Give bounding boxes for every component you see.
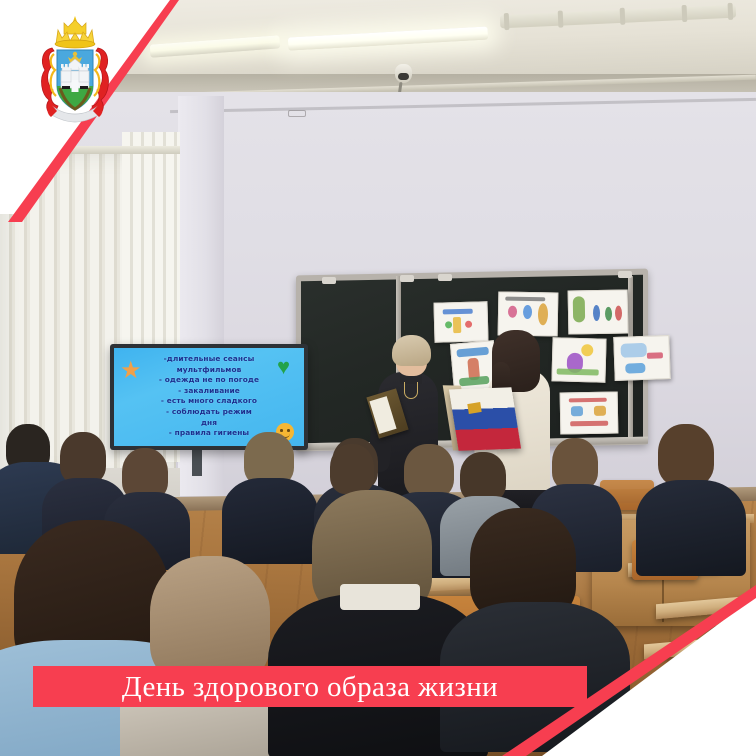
drawing-poster-3 (568, 289, 629, 334)
drawing-poster-7 (560, 391, 619, 434)
folder-emblem-icon (467, 402, 481, 414)
blackboard-clip-1 (322, 277, 336, 284)
slide-line-4: - закаливание (130, 386, 288, 397)
poster-root: ★ ♥ -длительные сеансы мультфильмов - од… (0, 0, 756, 756)
presenter-teacher-necklace (404, 382, 418, 399)
slide-line-6: - соблюдать режим (130, 407, 288, 418)
presenter-teacher-hair (392, 335, 431, 366)
slide-line-2: мультфильмов (130, 365, 288, 376)
coat-of-arms-oryol-oblast (36, 14, 114, 126)
slide-body-text: -длительные сеансы мультфильмов - одежда… (130, 354, 288, 439)
slide-line-5: - есть много сладкого (130, 396, 288, 407)
drawing-poster-2 (498, 291, 559, 336)
wall-socket-icon (288, 110, 306, 117)
banner-title: День здорового образа жизни (122, 672, 498, 702)
drawing-poster-6 (613, 335, 671, 381)
title-banner: День здорового образа жизни (33, 666, 587, 707)
blackboard-clip-3 (438, 274, 452, 281)
slide-line-3: - одежда не по погоде (130, 375, 288, 386)
display-stand (192, 450, 202, 476)
blackboard-clip-2 (400, 275, 414, 282)
drawing-poster-5 (551, 337, 606, 382)
drawing-poster-1 (433, 301, 488, 342)
blackboard-clip-4 (618, 271, 632, 278)
security-camera-icon (395, 64, 412, 83)
flag-folder-icon (449, 387, 521, 450)
wall-display-screen: ★ ♥ -длительные сеансы мультфильмов - од… (114, 348, 304, 446)
slide-line-7: дня (130, 418, 288, 429)
slide-line-1: -длительные сеансы (130, 354, 288, 365)
